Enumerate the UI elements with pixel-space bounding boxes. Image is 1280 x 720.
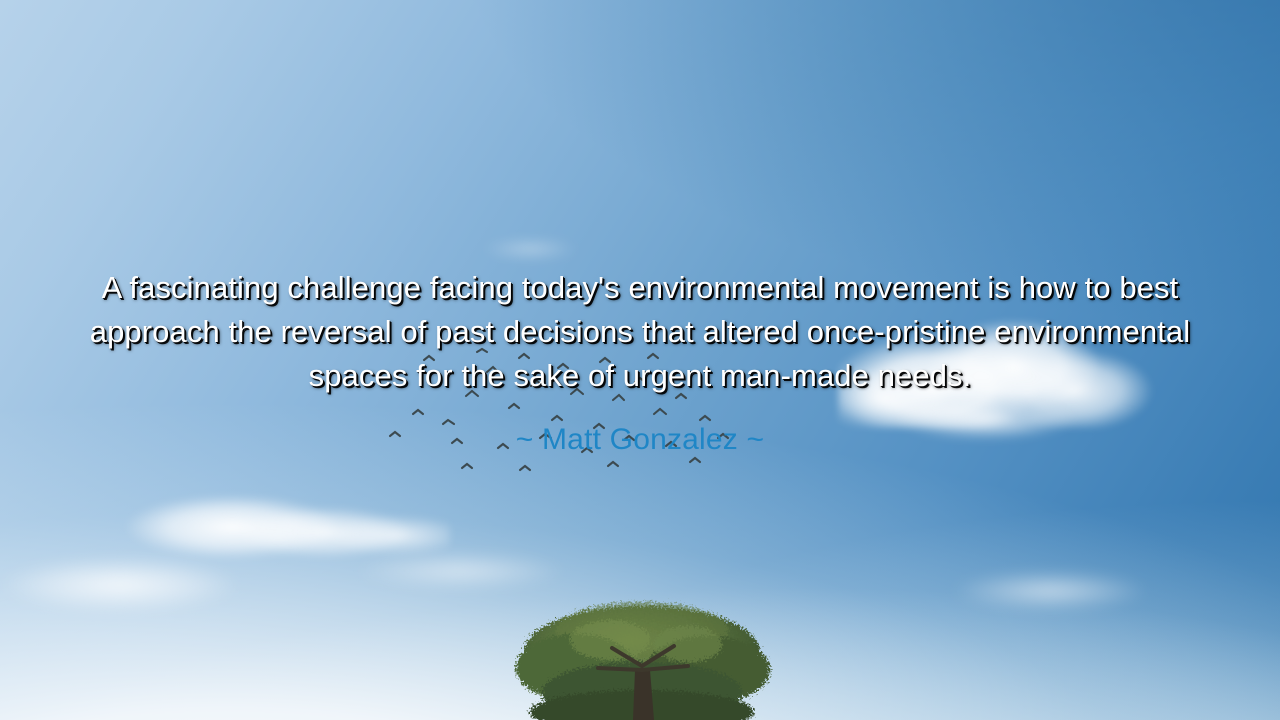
- quote-text: A fascinating challenge facing today's e…: [70, 266, 1210, 398]
- quote-attribution: ~ Matt Gonzalez ~: [70, 420, 1210, 460]
- quote-image-canvas: A fascinating challenge facing today's e…: [0, 0, 1280, 720]
- quote-block: A fascinating challenge facing today's e…: [70, 266, 1210, 460]
